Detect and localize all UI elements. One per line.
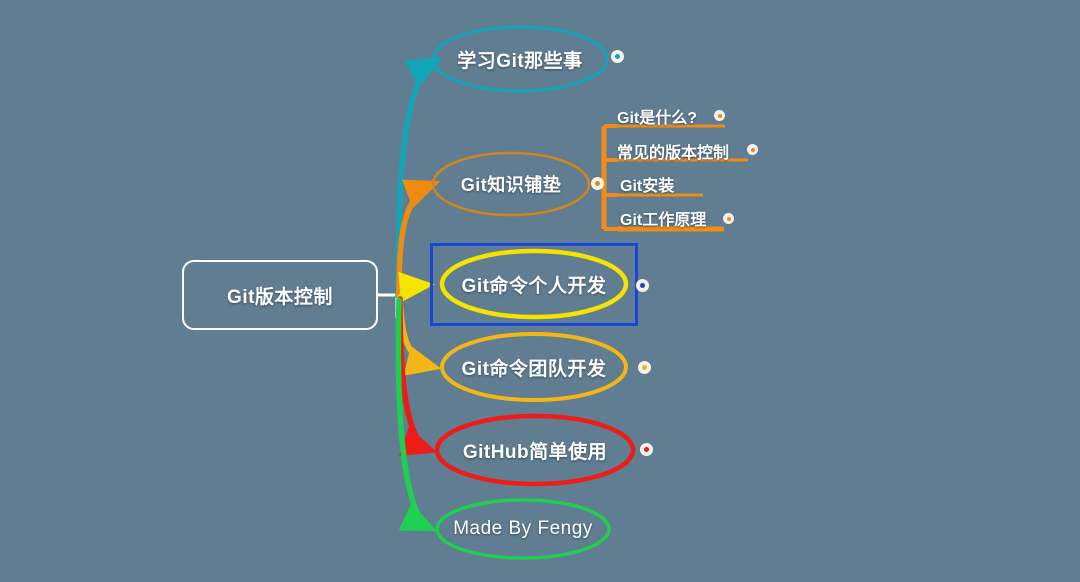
node-basics[interactable]: Git知识铺垫 bbox=[433, 153, 589, 215]
toggle-common-vcs-dot bbox=[751, 148, 755, 152]
node-solo-dev[interactable]: Git命令个人开发 bbox=[442, 251, 626, 317]
toggle-github-usage[interactable] bbox=[640, 443, 653, 456]
node-study-label: 学习Git那些事 bbox=[457, 46, 582, 73]
branch-line-team-dev bbox=[400, 298, 434, 367]
node-study[interactable]: 学习Git那些事 bbox=[433, 27, 607, 91]
node-credit[interactable]: Made By Fengy bbox=[437, 500, 609, 558]
toggle-what-is-git[interactable] bbox=[714, 110, 725, 121]
root-node-label: Git版本控制 bbox=[227, 282, 333, 309]
toggle-basics-dot bbox=[595, 181, 600, 186]
subitem-common-vcs[interactable]: 常见的版本控制 bbox=[617, 139, 729, 163]
toggle-solo-dev-dot bbox=[640, 283, 645, 288]
subitem-what-is-git-label: Git是什么? bbox=[617, 104, 697, 128]
subitem-common-vcs-label: 常见的版本控制 bbox=[617, 139, 729, 163]
mindmap-canvas: Git版本控制 学习Git那些事 Git知识铺垫 Git命令个人开发 Git命令… bbox=[0, 0, 1080, 582]
subitem-git-principle-label: Git工作原理 bbox=[620, 206, 706, 230]
branch-line-basics bbox=[399, 184, 433, 297]
node-credit-label: Made By Fengy bbox=[453, 518, 593, 540]
node-basics-label: Git知识铺垫 bbox=[461, 171, 562, 197]
node-github-usage-label: GitHub简单使用 bbox=[463, 437, 607, 464]
subitem-git-principle[interactable]: Git工作原理 bbox=[620, 206, 706, 230]
root-node[interactable]: Git版本控制 bbox=[182, 260, 378, 330]
branch-line-solo-dev bbox=[400, 285, 427, 297]
subitem-git-install-label: Git安装 bbox=[620, 172, 674, 196]
toggle-team-dev-dot bbox=[642, 365, 647, 370]
toggle-git-principle-dot bbox=[727, 217, 731, 221]
node-github-usage[interactable]: GitHub简单使用 bbox=[437, 416, 633, 484]
subitem-what-is-git[interactable]: Git是什么? bbox=[617, 104, 697, 128]
node-team-dev[interactable]: Git命令团队开发 bbox=[442, 334, 626, 400]
toggle-team-dev[interactable] bbox=[638, 361, 651, 374]
toggle-solo-dev[interactable] bbox=[636, 279, 649, 292]
toggle-github-usage-dot bbox=[644, 447, 649, 452]
toggle-common-vcs[interactable] bbox=[747, 144, 758, 155]
toggle-what-is-git-dot bbox=[718, 114, 722, 118]
toggle-study-dot bbox=[615, 54, 620, 59]
toggle-git-principle[interactable] bbox=[723, 213, 734, 224]
toggle-basics[interactable] bbox=[591, 177, 604, 190]
node-team-dev-label: Git命令团队开发 bbox=[462, 354, 607, 381]
node-solo-dev-label: Git命令个人开发 bbox=[462, 271, 607, 298]
subitem-git-install[interactable]: Git安装 bbox=[620, 172, 674, 196]
toggle-study[interactable] bbox=[611, 50, 624, 63]
